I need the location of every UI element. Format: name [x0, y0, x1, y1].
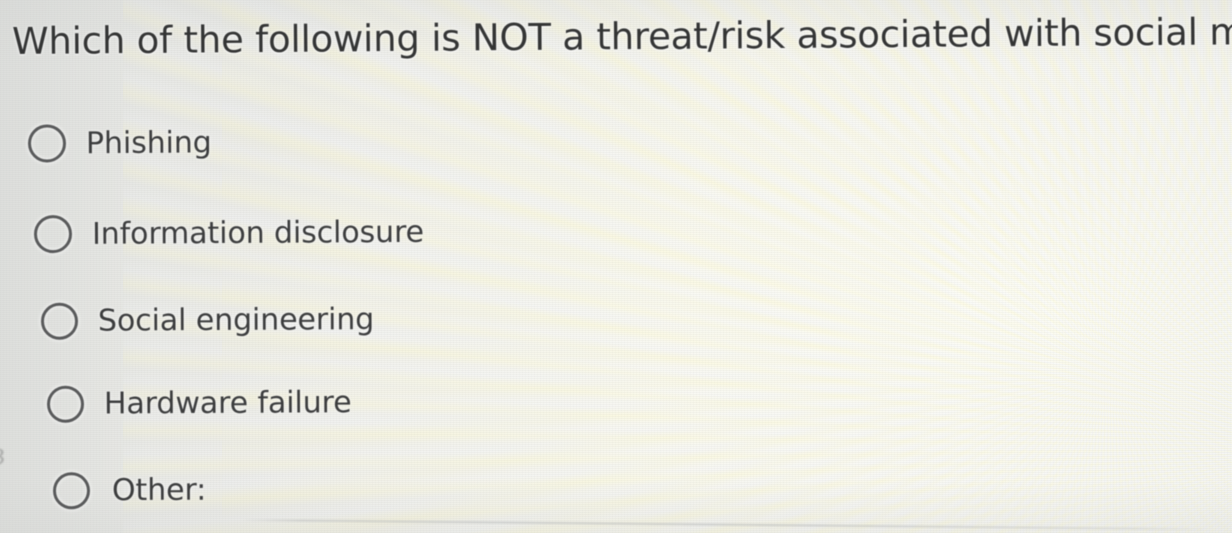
option-row-hardware-failure[interactable]: Hardware failure — [47, 384, 352, 423]
option-label-hardware-failure: Hardware failure — [104, 385, 352, 421]
option-label-other: Other: — [112, 473, 206, 508]
option-row-other[interactable]: Other: — [53, 472, 206, 510]
radio-button-icon-phishing[interactable] — [28, 124, 66, 162]
option-row-information-disclosure[interactable]: Information disclosure — [34, 213, 424, 253]
option-row-social-engineering[interactable]: Social engineering — [41, 301, 374, 340]
option-label-information-disclosure: Information disclosure — [92, 214, 424, 251]
question-content: Which of the following is NOT a threat/r… — [0, 0, 1232, 533]
question-title: Which of the following is NOT a threat/r… — [12, 9, 1232, 63]
question-text: Which of the following is NOT a threat/r… — [12, 10, 1232, 63]
other-text-input[interactable] — [243, 519, 1211, 530]
option-row-phishing[interactable]: Phishing — [28, 123, 212, 162]
form-question-screen: Which of the following is NOT a threat/r… — [0, 0, 1232, 533]
option-label-phishing: Phishing — [86, 125, 212, 161]
radio-button-icon-hardware-failure[interactable] — [47, 386, 84, 423]
radio-button-icon-social-engineering[interactable] — [41, 303, 78, 340]
option-label-social-engineering: Social engineering — [98, 302, 374, 338]
radio-button-icon-information-disclosure[interactable] — [34, 215, 72, 253]
radio-button-icon-other[interactable] — [53, 472, 90, 509]
clipped-edge-glyph: ȝ — [0, 441, 5, 467]
